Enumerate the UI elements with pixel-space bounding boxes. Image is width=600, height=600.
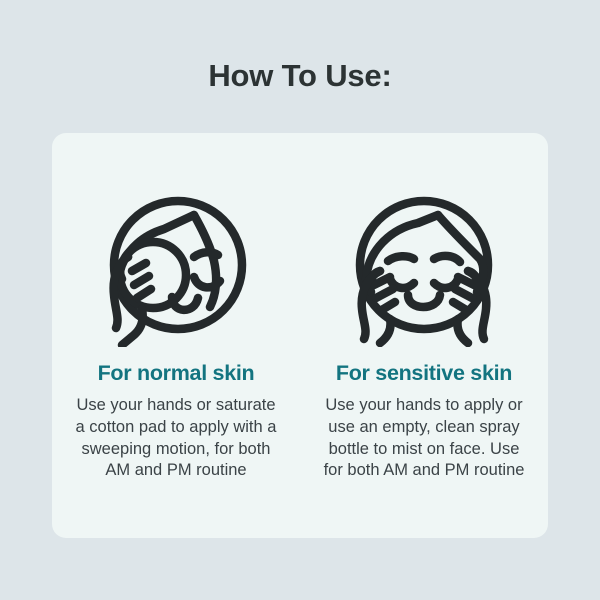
- page-title: How To Use:: [0, 58, 600, 94]
- panel-sensitive-skin: For sensitive skin Use your hands to app…: [300, 133, 548, 538]
- panel-heading-normal-skin: For normal skin: [98, 362, 255, 386]
- instructions-card: For normal skin Use your hands or satura…: [52, 133, 548, 538]
- panel-normal-skin: For normal skin Use your hands or satura…: [52, 133, 300, 538]
- face-with-two-hands-icon: [344, 183, 504, 348]
- panel-body-normal-skin: Use your hands or saturate a cotton pad …: [74, 395, 279, 483]
- how-to-use-page: How To Use:: [0, 0, 600, 600]
- panel-body-sensitive-skin: Use your hands to apply or use an empty,…: [318, 395, 530, 483]
- panel-heading-sensitive-skin: For sensitive skin: [336, 362, 512, 386]
- face-with-cotton-pad-icon: [96, 183, 256, 348]
